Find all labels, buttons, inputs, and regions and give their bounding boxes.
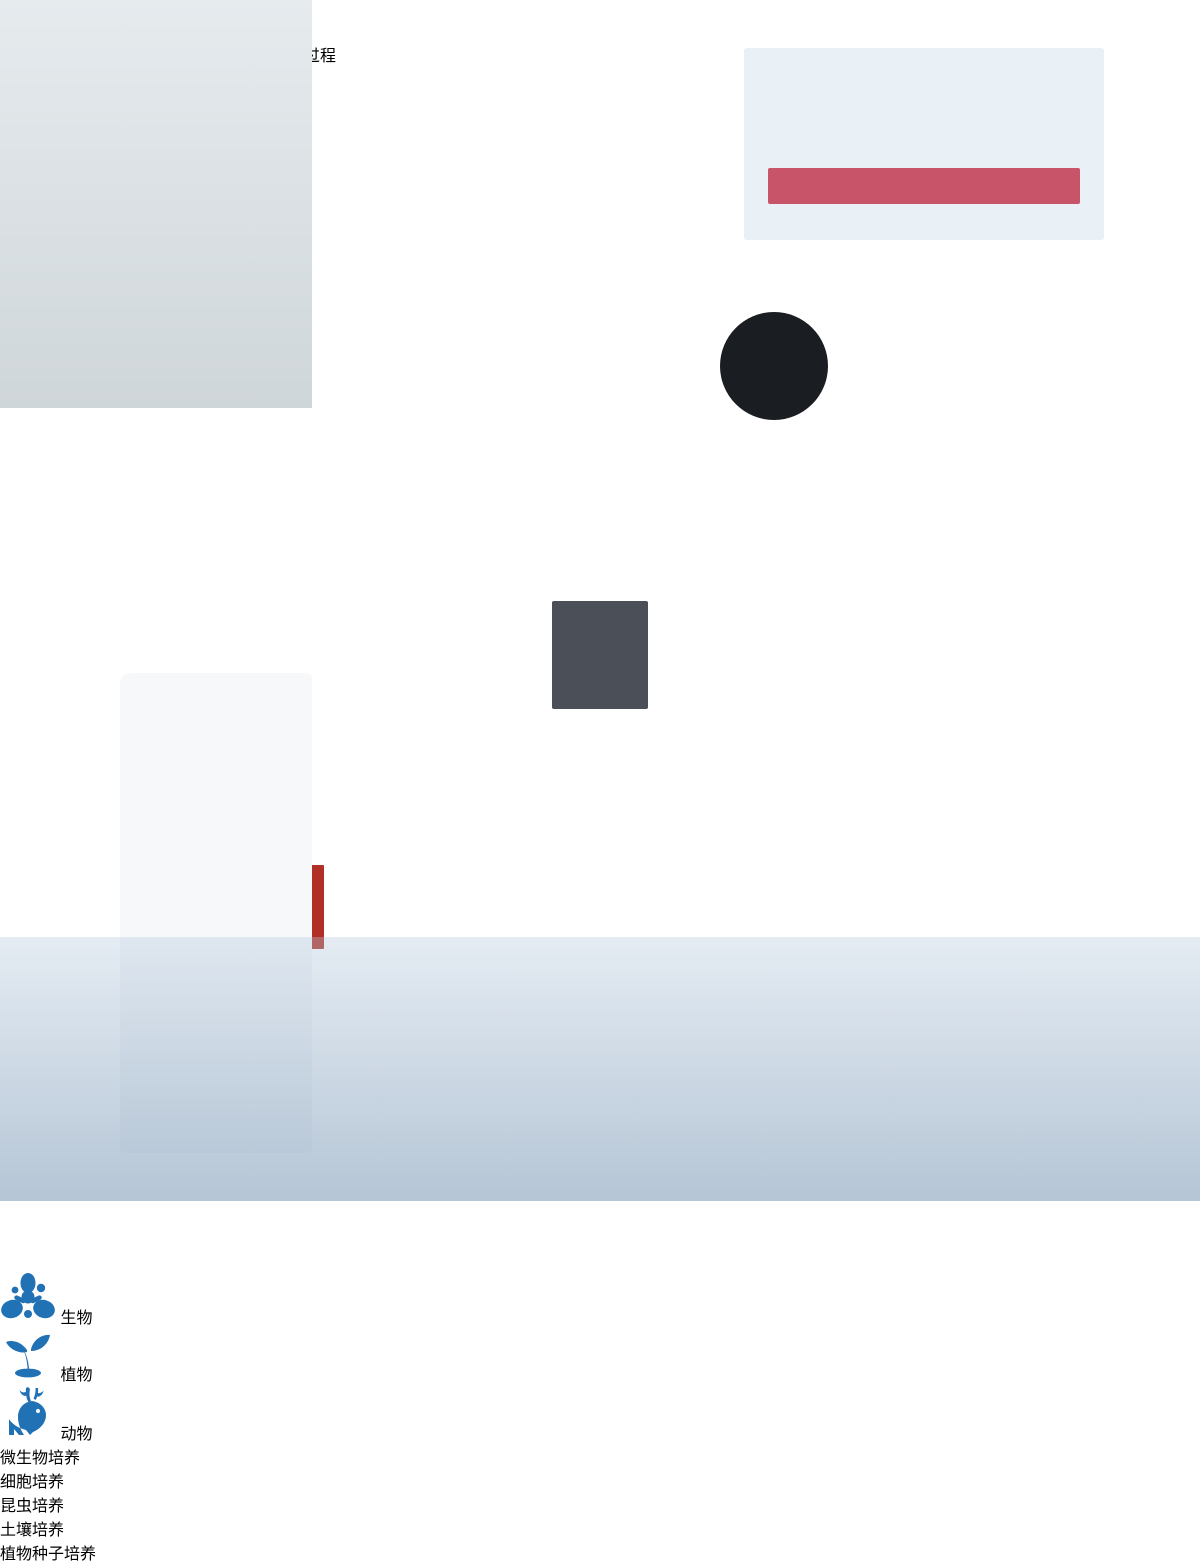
card-insect-culture[interactable]: 昆虫培养 bbox=[0, 1492, 1200, 1516]
category-item-biology[interactable]: 生物 bbox=[0, 1271, 1200, 1328]
category-label-plant: 植物 bbox=[60, 1367, 92, 1384]
category-label-biology: 生物 bbox=[60, 1310, 92, 1327]
card-cell-culture[interactable]: 细胞培养 bbox=[0, 1468, 1200, 1492]
microbe-icon bbox=[0, 1271, 56, 1323]
card-caption-insect-culture: 昆虫培养 bbox=[0, 1492, 1200, 1516]
sprout-icon bbox=[0, 1328, 56, 1380]
application-fields-banner: Wide range of applications 应用领域广泛 广泛应用于培… bbox=[0, 0, 1200, 1564]
card-plant-seed-culture[interactable]: 植物种子培养 bbox=[0, 1540, 1200, 1564]
category-item-plant[interactable]: 植物 bbox=[0, 1328, 1200, 1385]
card-microbial-culture[interactable]: 微生物培养 bbox=[0, 1444, 1200, 1468]
card-soil-culture[interactable]: 土壤培养 bbox=[0, 1516, 1200, 1540]
deer-icon bbox=[0, 1385, 56, 1439]
category-label-animal: 动物 bbox=[60, 1426, 92, 1443]
category-item-animal[interactable]: 动物 bbox=[0, 1385, 1200, 1444]
category-strip: 生物 植物 bbox=[0, 1271, 1200, 1444]
card-caption-cell-culture: 细胞培养 bbox=[0, 1468, 1200, 1492]
card-caption-microbial-culture: 微生物培养 bbox=[0, 1444, 1200, 1468]
card-caption-soil-culture: 土壤培养 bbox=[0, 1516, 1200, 1540]
card-caption-plant-seed-culture: 植物种子培养 bbox=[0, 1540, 1200, 1564]
